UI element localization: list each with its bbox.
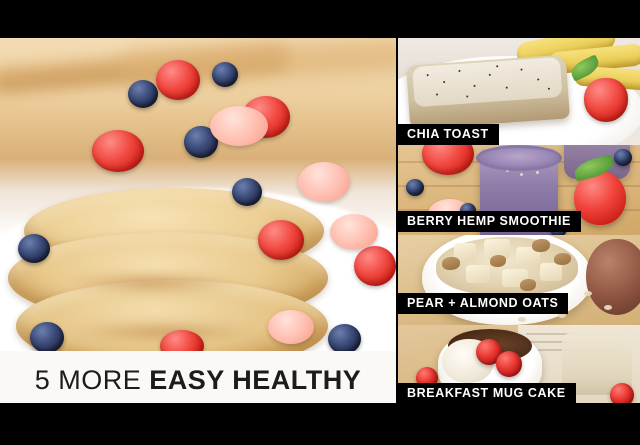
recipe-label-berry-hemp-smoothie: BERRY HEMP SMOOTHIE: [398, 211, 581, 232]
blueberry: [614, 149, 632, 166]
whole-pear: [586, 239, 640, 315]
strawberry-slice: [268, 310, 314, 344]
strawberry: [258, 220, 304, 260]
blueberry: [232, 178, 262, 206]
title-banner: 5 MORE EASY HEALTHY BREAKFAST IDEAS: [0, 351, 396, 403]
blueberry: [18, 234, 50, 263]
recipe-label-chia-toast: CHIA TOAST: [398, 124, 499, 145]
strawberry: [422, 145, 474, 175]
chia-spread: [412, 57, 562, 107]
pancake-shadow-upper: [62, 272, 242, 294]
raspberry: [610, 383, 634, 403]
title-emphasis-1: EASY HEALTHY: [149, 365, 361, 395]
blueberry: [328, 324, 361, 354]
chia-toast-slice: [406, 54, 570, 129]
title-prefix: 5 MORE: [35, 365, 150, 395]
blueberry: [212, 62, 238, 87]
video-thumbnail: 5 MORE EASY HEALTHY BREAKFAST IDEAS: [0, 0, 640, 445]
letterbox-bar-top: [0, 0, 640, 38]
strawberry: [156, 60, 200, 100]
strawberry-slice: [210, 106, 268, 146]
title-line-1: 5 MORE EASY HEALTHY: [35, 363, 362, 397]
strawberry-slice: [330, 214, 378, 250]
letterbox-bar-bottom: [0, 403, 640, 445]
strawberry: [92, 130, 144, 172]
oat-pile: [436, 237, 578, 295]
strawberry: [354, 246, 396, 286]
strawberry-slice: [298, 162, 350, 202]
blueberry: [128, 80, 158, 108]
blueberry: [406, 179, 424, 196]
recipe-label-pear-almond-oats: PEAR + ALMOND OATS: [398, 293, 568, 314]
recipe-label-breakfast-mug-cake: BREAKFAST MUG CAKE: [398, 383, 576, 404]
jar-rim: [476, 145, 562, 171]
hero-image-pancakes: 5 MORE EASY HEALTHY BREAKFAST IDEAS: [0, 38, 396, 403]
raspberry: [496, 351, 522, 377]
strawberry: [584, 78, 628, 122]
blueberry: [30, 322, 64, 353]
